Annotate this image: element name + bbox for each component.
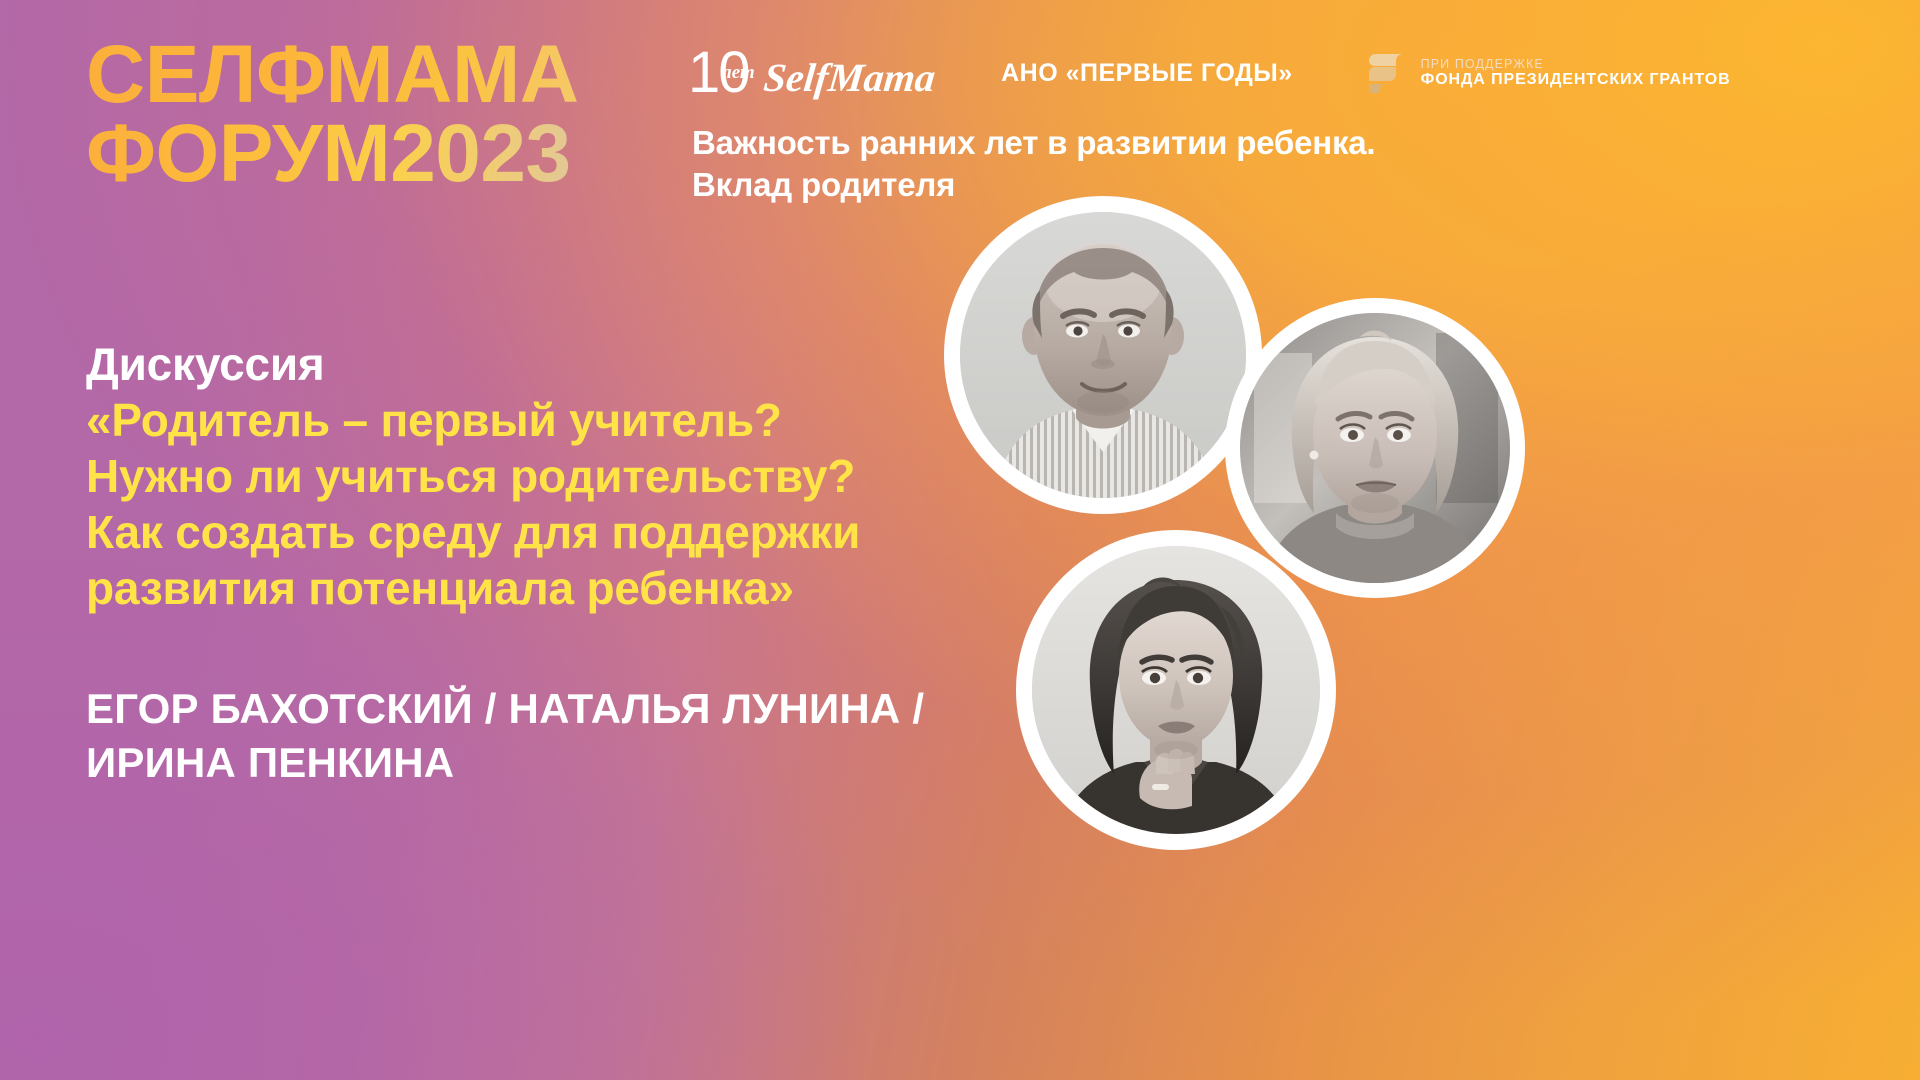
selfmama-logo: 10 лет SelfMama [688,42,937,104]
session-subtitle-line-1: Важность ранних лет в развитии ребенка. [692,124,1375,161]
poster-canvas: СЕЛФМАМА ФОРУМ2023 10 лет SelfMama АНО «… [0,0,1920,1080]
selfmama-wordmark: SelfMama [762,54,938,101]
presidential-grants-fund-text: ПРИ ПОДДЕРЖКЕ ФОНДА ПРЕЗИДЕНТСКИХ ГРАНТО… [1421,57,1731,89]
selfmama-anniversary-mark: 10 лет [688,42,762,104]
speaker-photo-egor-bahotskiy [944,196,1262,514]
ano-first-years-logo: АНО «ПЕРВЫЕ ГОДЫ» [1001,59,1293,88]
discussion-title-line-3: Как создать среду для поддержки [86,504,860,560]
speaker-photo-natalya-lunina-image [1240,313,1510,583]
discussion-label: Дискуссия [86,336,860,392]
logo-row: 10 лет SelfMama АНО «ПЕРВЫЕ ГОДЫ» ПРИ ПО… [688,42,1731,104]
selfmama-anniversary-years-word: лет [722,62,755,84]
discussion-title-line-2: Нужно ли учиться родительству? [86,448,860,504]
presidential-grants-fund-logo: ПРИ ПОДДЕРЖКЕ ФОНДА ПРЕЗИДЕНТСКИХ ГРАНТО… [1363,51,1731,95]
event-title-line-2: ФОРУМ2023 [86,115,578,194]
speaker-photo-egor-bahotskiy-image [960,212,1246,498]
event-title-line-1: СЕЛФМАМА [86,36,578,115]
presidential-grants-fund-mark-icon [1363,51,1409,95]
fund-name-label: ФОНДА ПРЕЗИДЕНТСКИХ ГРАНТОВ [1421,71,1731,89]
fund-support-label: ПРИ ПОДДЕРЖКЕ [1421,57,1731,71]
discussion-block: Дискуссия «Родитель – первый учитель? Ну… [86,336,860,617]
discussion-title-line-4: развития потенциала ребенка» [86,560,860,616]
speaker-photo-irina-penkina-image [1032,546,1320,834]
event-title: СЕЛФМАМА ФОРУМ2023 [86,36,578,193]
speakers-list: ЕГОР БАХОТСКИЙ / НАТАЛЬЯ ЛУНИНА / ИРИНА … [86,682,924,790]
speaker-photo-natalya-lunina [1225,298,1525,598]
speakers-line-1: ЕГОР БАХОТСКИЙ / НАТАЛЬЯ ЛУНИНА / [86,682,924,736]
session-subtitle: Важность ранних лет в развитии ребенка. … [692,122,1375,205]
session-subtitle-line-2: Вклад родителя [692,166,955,203]
discussion-title-line-1: «Родитель – первый учитель? [86,392,860,448]
speaker-photo-irina-penkina [1016,530,1336,850]
speakers-line-2: ИРИНА ПЕНКИНА [86,736,924,790]
